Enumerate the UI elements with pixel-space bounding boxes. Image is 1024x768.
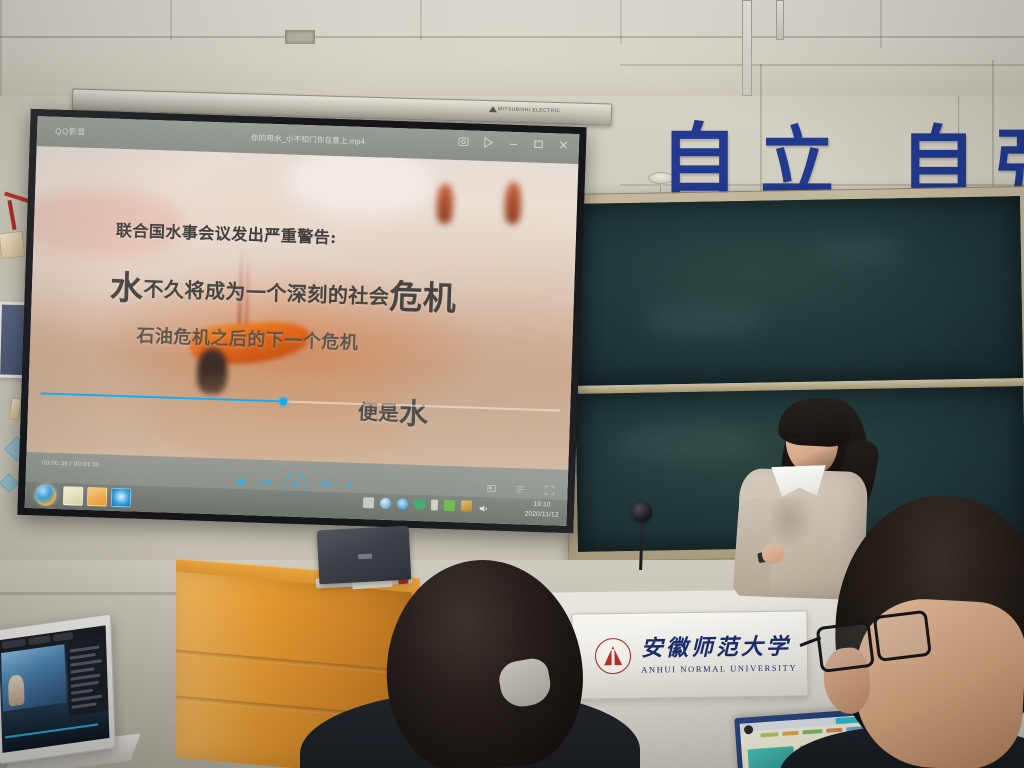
close-icon[interactable]	[558, 139, 569, 150]
ceiling-tile-line	[420, 0, 422, 40]
tray-image-icon[interactable]	[461, 500, 472, 511]
ceiling-tile-line	[0, 0, 2, 96]
ceiling-vent	[285, 30, 315, 44]
slide-line-2-emph-start: 水	[109, 268, 144, 308]
university-banner: 安徽师范大学 ANHUI NORMAL UNIVERSITY	[571, 610, 808, 699]
tray-keyboard-icon[interactable]	[363, 497, 374, 508]
start-button[interactable]	[35, 484, 57, 506]
taskbar-item-notepad[interactable]	[63, 486, 84, 506]
ceiling-pipe	[776, 0, 784, 40]
podium-laptop	[317, 526, 412, 585]
ceiling-tile-line	[880, 0, 882, 48]
projection-screen: QQ影音 你的用水_小不知门你在意上.mp4	[17, 109, 586, 533]
clock-date: 2020/11/12	[524, 510, 558, 521]
taskbar-clock[interactable]: 19:10 2020/11/12	[524, 499, 559, 520]
laptop-progress-bar[interactable]	[5, 723, 98, 738]
banner-text: 安徽师范大学 ANHUI NORMAL UNIVERSITY	[641, 635, 797, 674]
tray-shield-icon[interactable]	[414, 499, 425, 510]
tray-player-icon[interactable]	[397, 498, 408, 509]
fullscreen-button[interactable]	[544, 485, 555, 496]
wall-paper-note	[0, 231, 25, 259]
tray-volume-icon[interactable]	[478, 501, 489, 512]
laptop-left[interactable]	[0, 613, 116, 764]
slide-line-1: 联合国水事会议发出严重警告:	[116, 217, 338, 248]
laptop-sidebar-list[interactable]	[66, 638, 108, 716]
slide-line-2-body: 不久将成为一个深刻的社会	[143, 277, 390, 309]
aspect-ratio-button[interactable]	[486, 483, 497, 494]
projection-screen-surface: QQ影音 你的用水_小不知门你在意上.mp4	[25, 116, 580, 526]
slide-line-3: 石油危机之后的下一个危机	[136, 322, 359, 355]
laptop-video-pane[interactable]	[1, 644, 66, 711]
screenshot-icon[interactable]	[458, 136, 469, 147]
slide-line-4: 便是水	[357, 389, 429, 433]
media-player-window[interactable]: QQ影音 你的用水_小不知门你在意上.mp4	[25, 116, 580, 526]
taskbar-item-player[interactable]	[111, 488, 132, 508]
taskbar-item-folder[interactable]	[87, 487, 108, 507]
university-name-cn: 安徽师范大学	[641, 635, 797, 661]
wall-panel-seam	[620, 64, 1024, 66]
system-tray[interactable]	[363, 497, 489, 512]
anhui-normal-university-seal-icon	[595, 638, 631, 674]
tray-sync-icon[interactable]	[444, 500, 455, 511]
wall-panel-seam	[992, 60, 994, 200]
slide-line-2-emph-end: 危机	[389, 277, 457, 318]
tray-battery-icon[interactable]	[431, 499, 438, 510]
tray-globe-icon[interactable]	[380, 498, 391, 509]
laptop-left-screen[interactable]	[0, 625, 109, 753]
playlist-button[interactable]	[515, 484, 526, 495]
slide-text-layer: 联合国水事会议发出严重警告: 水不久将成为一个深刻的社会危机 石油危机之后的下一…	[27, 146, 579, 470]
microphone	[632, 502, 652, 522]
classroom-photo-scene: 自 立 自 强 MITSUBISHI ELECTRIC	[0, 0, 1024, 768]
minimize-icon[interactable]	[508, 138, 519, 149]
projector-brand-label: MITSUBISHI ELECTRIC	[498, 106, 560, 114]
ceiling-seam	[0, 36, 1024, 38]
ceiling-pipe	[742, 0, 752, 96]
playback-time-label: 00:00:39 / 00:01:30	[42, 460, 100, 468]
maximize-icon[interactable]	[533, 139, 544, 150]
tablet-avatar-icon	[744, 725, 754, 735]
skin-icon[interactable]	[483, 137, 494, 148]
video-canvas[interactable]: 联合国水事会议发出严重警告: 水不久将成为一个深刻的社会危机 石油危机之后的下一…	[27, 146, 579, 470]
progress-handle[interactable]	[279, 397, 287, 405]
laptop-logo	[358, 554, 372, 560]
university-name-en: ANHUI NORMAL UNIVERSITY	[641, 662, 797, 674]
ceiling-tile-line	[620, 0, 622, 44]
ceiling	[0, 0, 1024, 96]
blackboard-panel-top	[572, 196, 1023, 386]
laptop-video-figure	[8, 674, 25, 706]
ceiling-tile-line	[170, 0, 172, 40]
presenter-garment-print	[772, 498, 814, 550]
slide-line-2: 水不久将成为一个深刻的社会危机	[109, 261, 457, 320]
player-right-controls[interactable]	[486, 483, 555, 496]
brand-triangle-icon	[489, 106, 497, 112]
